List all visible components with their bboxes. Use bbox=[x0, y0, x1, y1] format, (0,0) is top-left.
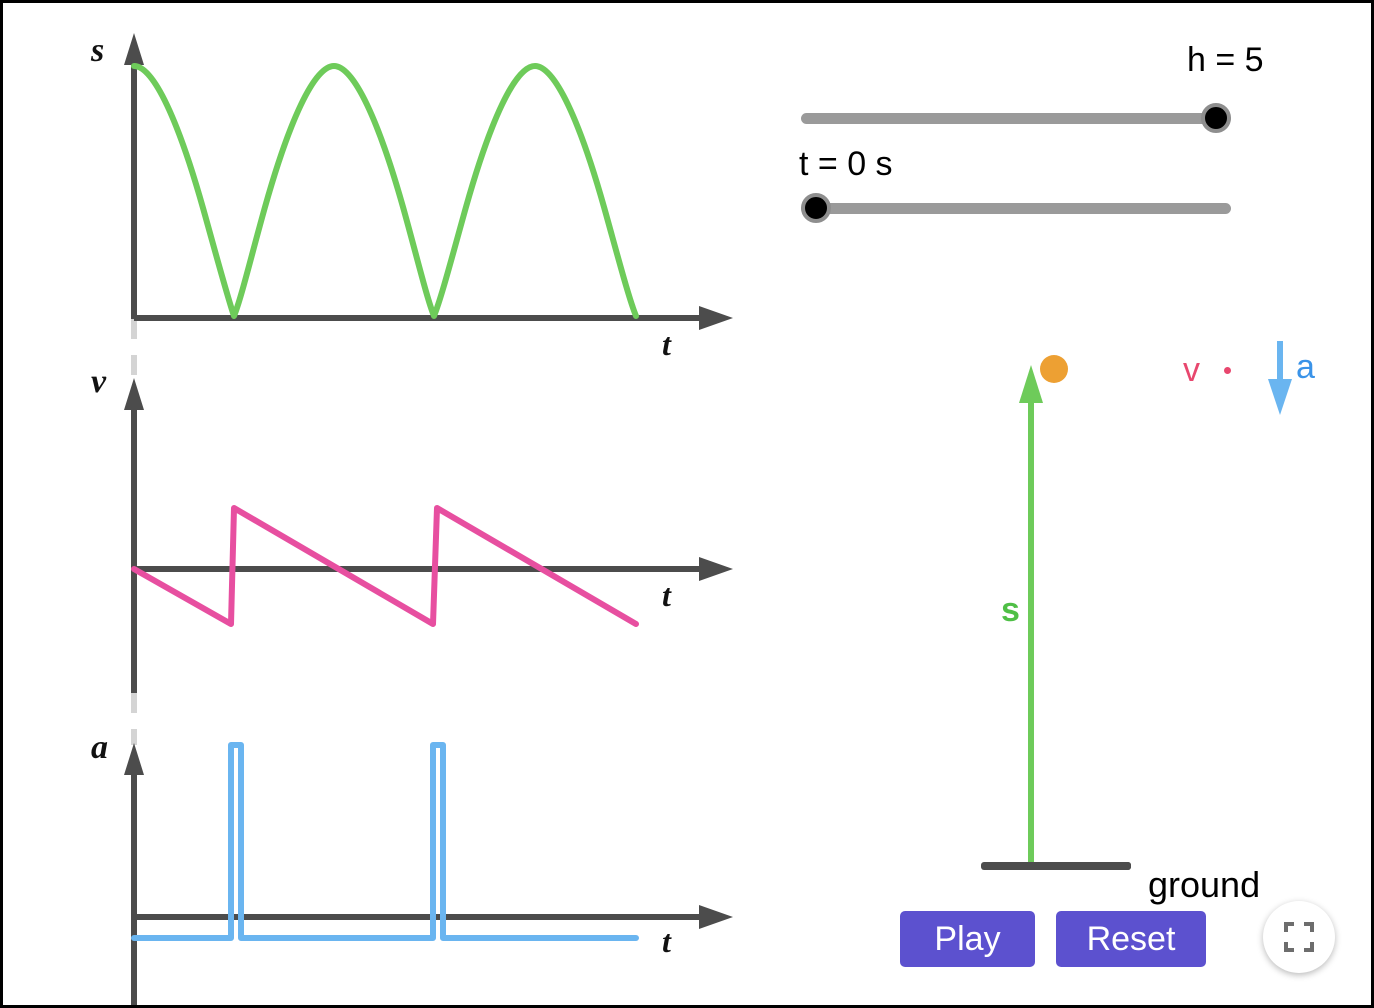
ground-bar-right bbox=[1035, 862, 1131, 870]
play-button[interactable]: Play bbox=[900, 911, 1035, 967]
velocity-axis-label: v bbox=[91, 365, 106, 399]
velocity-vector-label: v bbox=[1183, 353, 1200, 387]
time-slider-value-label: t = 0 s bbox=[799, 147, 893, 181]
acceleration-time-graph bbox=[124, 743, 733, 1008]
velocity-time-axis-label: t bbox=[662, 579, 671, 611]
simulation-panel: h = 5 t = 0 s gro bbox=[763, 3, 1374, 1008]
height-slider-value-label: h = 5 bbox=[1187, 43, 1264, 77]
velocity-y-axis-arrow bbox=[124, 378, 144, 410]
position-time-graph bbox=[124, 33, 733, 330]
position-vector-label: s bbox=[1001, 593, 1020, 627]
applet-frame: s t v t a t h = 5 t = 0 s bbox=[0, 0, 1374, 1008]
height-slider-knob[interactable] bbox=[1201, 103, 1231, 133]
acceleration-vector-label: a bbox=[1296, 350, 1315, 384]
position-axis-label: s bbox=[91, 34, 104, 68]
height-slider[interactable] bbox=[801, 103, 1231, 135]
fullscreen-icon bbox=[1283, 921, 1315, 953]
position-curve bbox=[134, 66, 636, 316]
position-vector-arrow bbox=[1019, 365, 1043, 866]
time-slider-track[interactable] bbox=[801, 203, 1231, 214]
velocity-zero-dot bbox=[1224, 367, 1231, 374]
time-slider[interactable] bbox=[801, 193, 1231, 225]
acceleration-curve bbox=[134, 745, 636, 938]
acceleration-x-axis-arrow bbox=[699, 905, 733, 929]
position-time-axis-label: t bbox=[662, 328, 671, 360]
position-x-axis-arrow bbox=[699, 306, 733, 330]
fullscreen-button[interactable] bbox=[1263, 901, 1335, 973]
acceleration-time-axis-label: t bbox=[662, 925, 671, 957]
height-slider-track[interactable] bbox=[801, 113, 1231, 124]
graphs-svg bbox=[3, 3, 763, 1008]
acceleration-axis-label: a bbox=[91, 731, 108, 765]
graphs-panel: s t v t a t bbox=[3, 3, 763, 1008]
position-y-axis-arrow bbox=[124, 33, 144, 65]
acceleration-y-axis-arrow bbox=[124, 743, 144, 775]
velocity-time-graph bbox=[124, 378, 733, 693]
time-slider-knob[interactable] bbox=[801, 193, 831, 223]
velocity-x-axis-arrow bbox=[699, 557, 733, 581]
ground-label: ground bbox=[1148, 867, 1260, 903]
reset-button[interactable]: Reset bbox=[1056, 911, 1206, 967]
acceleration-vector-arrow bbox=[1268, 341, 1292, 415]
simulation-vectors-svg bbox=[763, 333, 1374, 893]
